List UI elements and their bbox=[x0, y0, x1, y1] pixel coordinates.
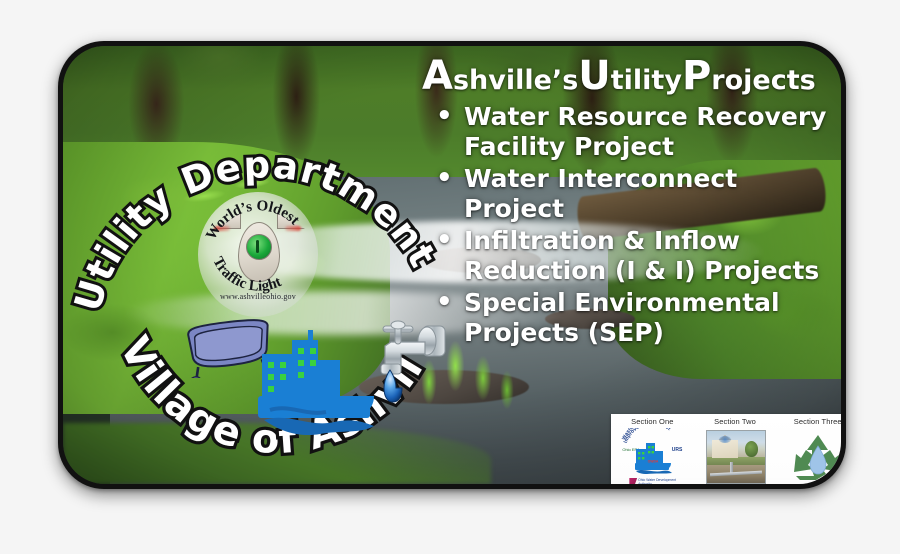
worlds-oldest-traffic-light-emblem: World’s Oldest Traffic Light www.ashvill… bbox=[198, 192, 318, 317]
emblem-arc-top-text: World’s Oldest bbox=[203, 198, 302, 243]
project-bullet-list: Water Resource Recovery Facility Project… bbox=[418, 102, 838, 349]
list-item: Water Interconnect Project bbox=[426, 164, 838, 225]
wastewater-plant-logo-icon: Wastewater Plant Improvement Project Ohi… bbox=[621, 428, 683, 484]
diagram-sky-highlight bbox=[719, 436, 731, 443]
emblem-arc-bottom-text: Traffic Light bbox=[209, 254, 284, 294]
section-header: Section Three bbox=[794, 417, 841, 426]
sections-panel: Section One Wastewater Plant Improv bbox=[611, 414, 841, 484]
recycle-water-drop-icon bbox=[787, 428, 841, 484]
owda-text: OWDA bbox=[648, 460, 659, 464]
urs-badge: URS bbox=[672, 447, 683, 453]
list-item: Special Environmental Projects (SEP) bbox=[426, 288, 838, 349]
title-cap-p: P bbox=[682, 53, 711, 99]
section-header: Section Two bbox=[714, 417, 756, 426]
village-utility-logo: Utility Department Village of Ashville bbox=[73, 64, 443, 454]
graphic-frame-inner: Utility Department Village of Ashville bbox=[63, 46, 841, 484]
section-cell-wrrf: Section One Wastewater Plant Improv bbox=[611, 414, 694, 484]
title-word-ashvilles: shville’s bbox=[453, 65, 578, 96]
diagram-tree bbox=[745, 441, 758, 457]
title-word-projects: rojects bbox=[711, 65, 815, 96]
screenshot-canvas: Utility Department Village of Ashville bbox=[0, 0, 900, 554]
owda-swatch bbox=[629, 478, 637, 484]
owda-badge: Ohio Water Development Authority bbox=[629, 478, 683, 484]
list-item: Infiltration & Inflow Reduction (I & I) … bbox=[426, 226, 838, 287]
section-cell-ii: Section Two I & I bbox=[694, 414, 777, 484]
recycle-arrows-icon bbox=[790, 432, 841, 482]
graphic-frame: Utility Department Village of Ashville bbox=[58, 41, 846, 489]
title-word-utility: tility bbox=[611, 65, 682, 96]
owda-badge-text: Ohio Water Development Authority bbox=[638, 479, 683, 484]
title-cap-u: U bbox=[578, 53, 610, 99]
page-title: Ashville’sUtilityProjects bbox=[422, 58, 838, 96]
section-cell-sep: Section Three SEP bbox=[776, 414, 841, 484]
section-header: Section One bbox=[631, 417, 673, 426]
list-item: Water Resource Recovery Facility Project bbox=[426, 102, 838, 163]
plant-silhouette-icon: OWDA bbox=[633, 440, 673, 474]
emblem-website-url: www.ashvilleohio.gov bbox=[198, 292, 318, 301]
sewer-cross-section-photo bbox=[706, 430, 766, 484]
projects-text-block: Ashville’sUtilityProjects Water Resource… bbox=[418, 58, 838, 350]
title-cap-a: A bbox=[422, 53, 453, 99]
house-sewer-diagram-icon bbox=[704, 428, 766, 484]
